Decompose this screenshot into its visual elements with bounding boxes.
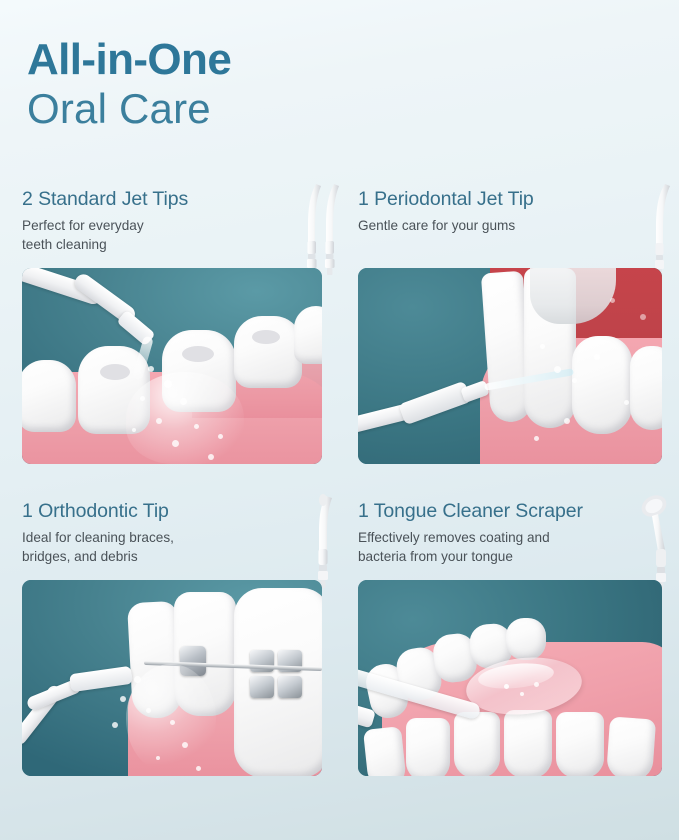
feature-title: 1 Orthodontic Tip [22,500,292,522]
feature-description: Effectively removes coating and bacteria… [358,529,628,565]
feature-image-orthodontic-tip [22,580,322,776]
feature-description-line-2: teeth cleaning [22,237,107,252]
feature-description: Gentle care for your gums [358,217,628,235]
feature-grid: 2 Standard Jet Tips Perfect for everyday… [0,188,679,812]
lower-tooth [454,712,500,776]
page-subtitle: Oral Care [27,85,231,132]
molar-tooth [22,360,76,432]
feature-card-tongue-cleaner-scraper: 1 Tongue Cleaner Scraper Effectively rem… [358,500,679,812]
feature-image-tongue-cleaner-scraper [358,580,662,776]
feature-header: 1 Orthodontic Tip Ideal for cleaning bra… [22,500,344,580]
incisor-tooth [572,336,632,434]
braces-bracket [278,676,302,698]
feature-description: Perfect for everyday teeth cleaning [22,217,292,253]
lower-tooth [606,716,656,776]
feature-card-periodontal-jet-tip: 1 Periodontal Jet Tip Gentle care for yo… [358,188,679,500]
braces-bracket [250,676,274,698]
feature-row-1: 2 Standard Jet Tips Perfect for everyday… [0,188,679,500]
feature-image-standard-jet-tips [22,268,322,464]
water-spray-burst [126,372,244,464]
feature-description-line-1: Effectively removes coating and [358,530,550,545]
tooth-groove [182,346,214,362]
page-title: All-in-One [27,38,231,83]
feature-description-line-2: bridges, and debris [22,549,138,564]
lower-tooth [406,718,450,776]
feature-description-line-2: bacteria from your tongue [358,549,513,564]
feature-description-line-1: Gentle care for your gums [358,218,515,233]
feature-title: 1 Periodontal Jet Tip [358,188,628,210]
upper-tooth [506,618,546,660]
molar-tooth [294,306,322,364]
feature-description-line-1: Perfect for everyday [22,218,144,233]
feature-description: Ideal for cleaning braces, bridges, and … [22,529,292,565]
lower-tooth [556,712,604,776]
feature-header: 1 Tongue Cleaner Scraper Effectively rem… [358,500,679,580]
feature-card-standard-jet-tips: 2 Standard Jet Tips Perfect for everyday… [22,188,344,500]
feature-title: 1 Tongue Cleaner Scraper [358,500,628,522]
molar-tooth [234,316,302,388]
feature-description-line-1: Ideal for cleaning braces, [22,530,174,545]
feature-header: 2 Standard Jet Tips Perfect for everyday… [22,188,344,268]
infographic-page: All-in-One Oral Care 2 Standard Jet Tips… [0,0,679,840]
feature-image-periodontal-jet-tip [358,268,662,464]
feature-card-orthodontic-tip: 1 Orthodontic Tip Ideal for cleaning bra… [22,500,344,812]
feature-title: 2 Standard Jet Tips [22,188,292,210]
incisor-tooth [630,346,662,430]
page-header: All-in-One Oral Care [27,38,231,132]
lower-tooth [504,710,552,776]
tooth-groove [100,364,130,380]
feature-header: 1 Periodontal Jet Tip Gentle care for yo… [358,188,679,268]
lower-tooth [363,726,407,776]
tooth-groove [252,330,280,344]
feature-row-2: 1 Orthodontic Tip Ideal for cleaning bra… [0,500,679,812]
